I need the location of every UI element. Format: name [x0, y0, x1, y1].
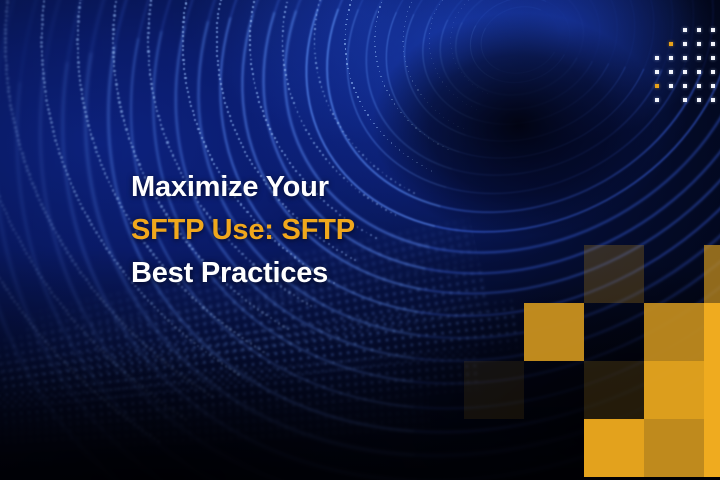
- dot-matrix-dot: [669, 70, 673, 74]
- dot-matrix-dot: [655, 56, 659, 60]
- dot-matrix-dot: [669, 42, 673, 46]
- checkerboard-cell: [704, 361, 720, 419]
- checkerboard-cell: [644, 303, 704, 361]
- checkerboard-cell: [584, 419, 644, 477]
- headline-line-1: Maximize Your: [131, 166, 451, 209]
- dot-matrix-dot: [697, 70, 701, 74]
- checkerboard-cell: [584, 245, 644, 303]
- dot-matrix-dot: [697, 56, 701, 60]
- headline-block: Maximize Your SFTP Use: SFTP Best Practi…: [131, 166, 451, 295]
- dot-matrix-dot: [697, 84, 701, 88]
- dot-matrix-dot: [711, 84, 715, 88]
- checkerboard-cell: [464, 361, 524, 419]
- dot-matrix-dot: [655, 70, 659, 74]
- dot-matrix-dot: [683, 56, 687, 60]
- checkerboard-cell: [704, 303, 720, 361]
- dot-matrix-dot: [683, 98, 687, 102]
- headline-line-2: SFTP Use: SFTP: [131, 209, 451, 252]
- dot-matrix-dot: [697, 42, 701, 46]
- dot-matrix-decoration: [655, 28, 717, 100]
- checkerboard-decoration: [464, 245, 720, 480]
- banner-graphic: Maximize Your SFTP Use: SFTP Best Practi…: [0, 0, 720, 480]
- dot-matrix-dot: [655, 98, 659, 102]
- checkerboard-cell: [584, 361, 644, 419]
- dot-matrix-dot: [697, 28, 701, 32]
- dot-matrix-dot: [669, 56, 673, 60]
- dot-matrix-dot: [711, 70, 715, 74]
- checkerboard-cell: [704, 245, 720, 303]
- dot-matrix-dot: [683, 84, 687, 88]
- dot-matrix-dot: [669, 84, 673, 88]
- checkerboard-cell: [704, 419, 720, 477]
- dot-matrix-dot: [683, 42, 687, 46]
- checkerboard-cell: [524, 303, 584, 361]
- checkerboard-cell: [644, 419, 704, 477]
- dot-matrix-dot: [711, 98, 715, 102]
- checkerboard-cell: [644, 361, 704, 419]
- dot-matrix-dot: [697, 98, 701, 102]
- dot-matrix-dot: [711, 42, 715, 46]
- dot-matrix-dot: [683, 70, 687, 74]
- dot-matrix-dot: [711, 28, 715, 32]
- dot-matrix-dot: [683, 28, 687, 32]
- headline-line-3: Best Practices: [131, 252, 451, 295]
- dot-matrix-dot: [655, 84, 659, 88]
- dot-matrix-dot: [711, 56, 715, 60]
